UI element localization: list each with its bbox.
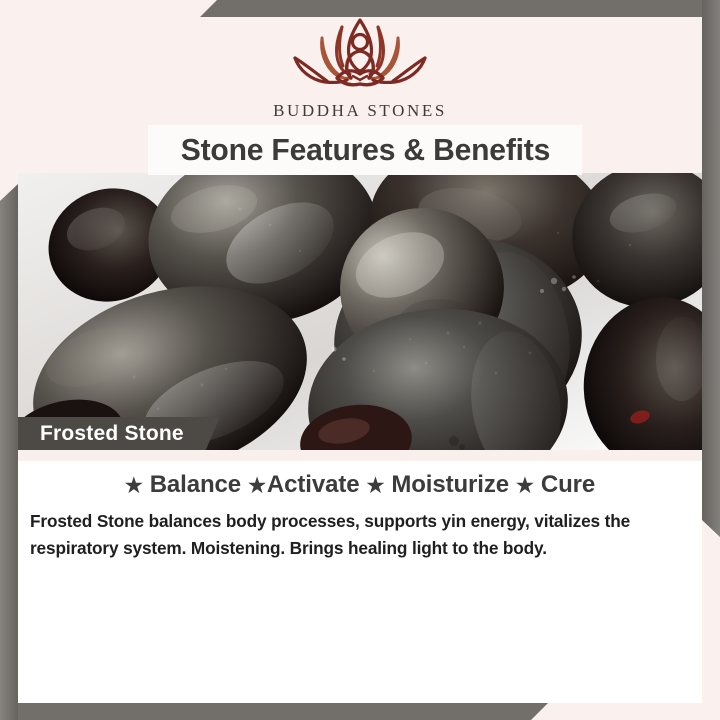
frame-right-bar: [702, 0, 720, 537]
star-icon: ★: [125, 475, 143, 497]
description-text: Frosted Stone balances body processes, s…: [30, 508, 678, 562]
lotus-meditation-icon: [265, 14, 455, 100]
photo-separator-strip: [18, 450, 702, 461]
brand-logo[interactable]: BUDDHA STONES: [210, 14, 510, 121]
stone-photo-graphic: [18, 173, 702, 450]
frame-top-bar: [200, 0, 720, 17]
benefits-list: ★Balance★Activate★Moisturize★Cure: [18, 471, 702, 499]
page-title: Stone Features & Benefits: [180, 132, 549, 168]
card-body: BUDDHA STONES Stone Features & Benefits: [18, 0, 702, 703]
benefit-label: Activate: [267, 471, 360, 498]
benefit-item-moisturize: ★Moisturize: [366, 471, 509, 498]
product-feature-card: BUDDHA STONES Stone Features & Benefits: [0, 0, 720, 720]
star-icon: ★: [516, 475, 534, 497]
star-icon: ★: [366, 475, 384, 497]
content-area: ★Balance★Activate★Moisturize★Cure Froste…: [18, 461, 702, 703]
benefit-item-cure: ★Cure: [516, 471, 595, 498]
benefit-item-activate: ★Activate: [248, 471, 359, 498]
star-icon: ★: [248, 475, 266, 497]
card-header: BUDDHA STONES: [18, 0, 702, 126]
benefit-label: Moisturize: [391, 471, 509, 498]
benefit-label: Cure: [541, 471, 595, 498]
benefit-label: Balance: [150, 471, 241, 498]
frame-left-bar: [0, 184, 18, 720]
title-banner: Stone Features & Benefits: [148, 125, 582, 175]
brand-name: BUDDHA STONES: [210, 101, 510, 121]
photo-caption-badge: Frosted Stone: [18, 417, 220, 450]
frame-bottom-bar: [0, 703, 548, 720]
benefit-item-balance: ★Balance: [125, 471, 241, 498]
photo-caption-text: Frosted Stone: [40, 422, 184, 446]
stone-photo: Frosted Stone: [18, 173, 702, 450]
